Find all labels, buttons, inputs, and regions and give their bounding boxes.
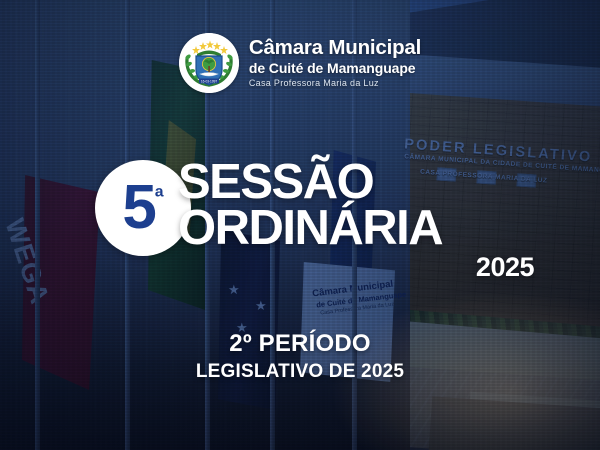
header-lockup: 16-03-1997 Câmara Municipal de Cuité de … [0,33,600,93]
coat-of-arms-emblem-icon: 16-03-1997 [179,33,239,93]
footer-line2: LEGISLATIVO DE 2025 [0,361,600,384]
badge-ordinal: ª [155,186,164,210]
badge-number: 5 [122,184,153,232]
svg-text:16-03-1997: 16-03-1997 [201,80,218,84]
header-title-line2: de Cuité de Mamanguape [249,61,421,75]
header-subtitle: Casa Professora Maria da Luz [249,79,421,88]
header-title-line1: Câmara Municipal [249,38,421,59]
announcement-card: ★ ★ ★ Câmara Municipal de Cuité de Maman… [0,0,600,450]
title-year: 2025 [0,254,534,281]
title-row: 5 ª SESSÃO ORDINÁRIA 2025 [0,162,600,214]
title-word-ordinaria: ORDINÁRIA [178,204,442,253]
session-number-badge: 5 ª [95,160,191,256]
footer-block: 2º PERÍODO LEGISLATIVO DE 2025 [0,330,600,383]
footer-line1: 2º PERÍODO [0,330,600,358]
header-text: Câmara Municipal de Cuité de Mamanguape … [249,38,421,89]
title-word-sessao: SESSÃO [178,158,373,207]
badge-inner: 5 ª [122,184,163,232]
main-title-block: 5 ª SESSÃO ORDINÁRIA 2025 [0,162,600,214]
